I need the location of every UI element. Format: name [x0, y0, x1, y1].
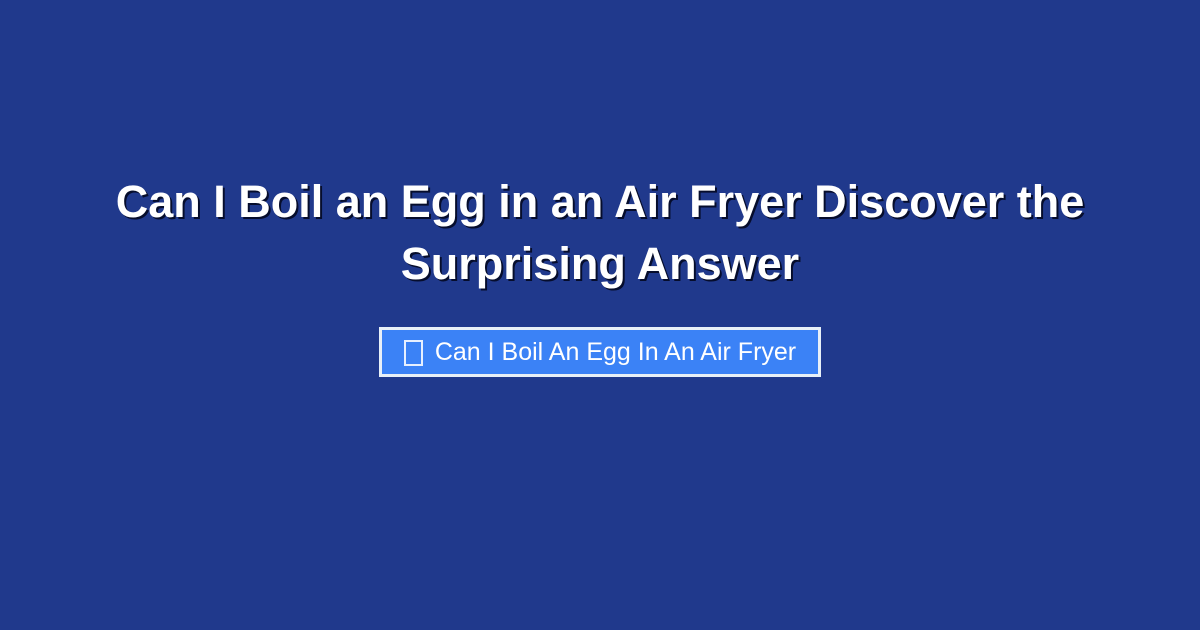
- tofu-box-icon: [404, 340, 423, 366]
- cta-container: Can I Boil An Egg In An Air Fryer: [70, 327, 1130, 377]
- cta-button-label: Can I Boil An Egg In An Air Fryer: [435, 340, 796, 365]
- social-share-card: Can I Boil an Egg in an Air Fryer Discov…: [0, 0, 1200, 630]
- card-content: Can I Boil an Egg in an Air Fryer Discov…: [70, 171, 1130, 377]
- cta-button[interactable]: Can I Boil An Egg In An Air Fryer: [379, 327, 821, 377]
- page-title: Can I Boil an Egg in an Air Fryer Discov…: [100, 171, 1100, 295]
